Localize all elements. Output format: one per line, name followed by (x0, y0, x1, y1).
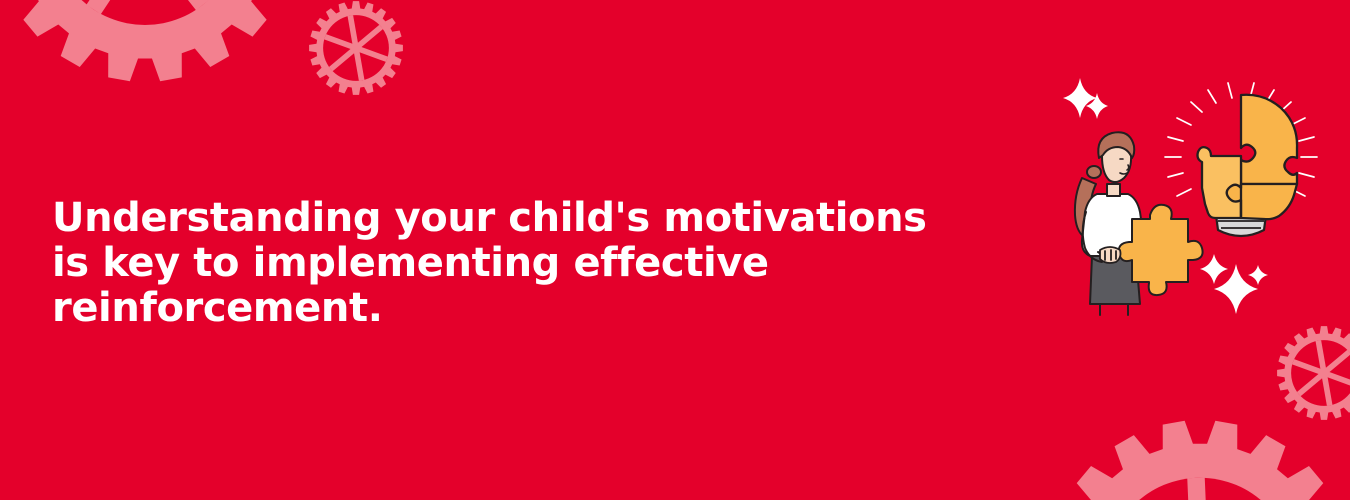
sparkle-cluster-bottom-right-icon (1200, 254, 1268, 314)
gear-small-top-left-icon (309, 1, 403, 95)
lightbulb-puzzle-icon (1198, 95, 1298, 219)
woman-figure-icon (1075, 132, 1203, 315)
gear-large-top-left-icon (0, 0, 295, 81)
page-title: Understanding your child's motivations i… (52, 196, 1052, 331)
hero-illustration (1050, 60, 1350, 340)
sparkle-cluster-top-left-icon (1063, 78, 1108, 119)
gear-large-bottom-right-icon (1048, 421, 1350, 500)
illustration-svg (1050, 60, 1350, 340)
promo-banner: Understanding your child's motivations i… (0, 0, 1350, 500)
gear-small-bottom-right-icon (1277, 326, 1350, 420)
